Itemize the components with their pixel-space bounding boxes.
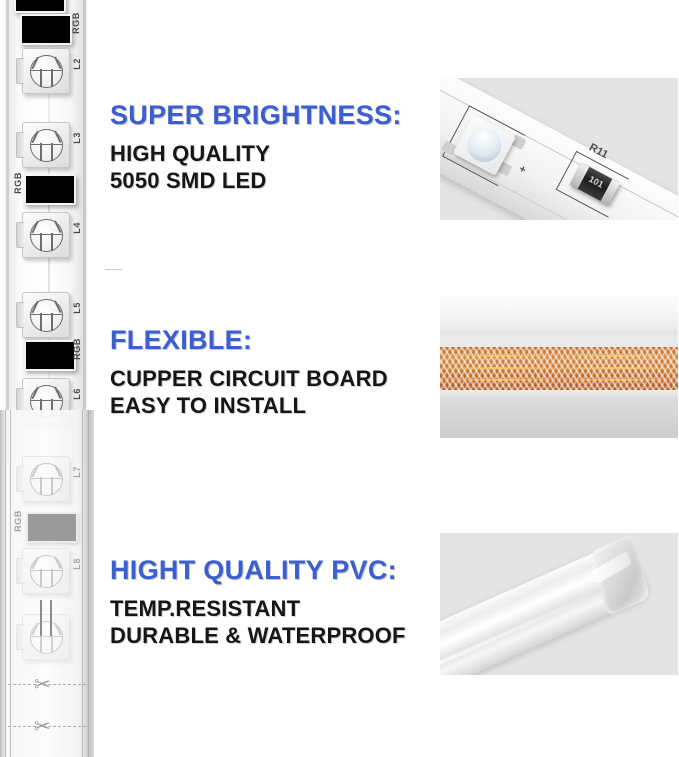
- tube-open-end: [591, 533, 650, 616]
- resistor-label-rgb: RGB: [71, 12, 81, 34]
- feature-line-2: 5050 SMD LED: [110, 168, 440, 195]
- scissors-icon: ✂: [34, 672, 51, 698]
- pvc-jacket-background: [440, 296, 678, 438]
- copper-braid-core: [440, 347, 678, 390]
- led-label: L3: [72, 132, 82, 144]
- scissors-icon: ✂: [34, 714, 51, 740]
- cut-mark: ✂: [8, 672, 86, 698]
- jacket-highlight: [440, 296, 678, 344]
- feature-line-1: HIGH QUALITY: [110, 141, 440, 168]
- led-chip: [22, 614, 70, 660]
- led-label: L8: [72, 558, 82, 570]
- clear-pvc-tube: [440, 539, 650, 675]
- sleeve-edge-line: [82, 410, 83, 757]
- led-lens-icon: [30, 463, 63, 496]
- led-lens-icon: [30, 299, 63, 332]
- feature-heading: FLEXIBLE:: [110, 325, 440, 356]
- led-lens-icon: [30, 129, 63, 162]
- tube-end-reflection: [591, 551, 631, 584]
- copper-wire: [440, 355, 678, 357]
- led-lens-icon: [30, 55, 63, 88]
- led-label: L4: [72, 222, 82, 234]
- resistor-label-rgb: RGB: [72, 338, 82, 360]
- copper-circuit-board-photo: [440, 296, 678, 438]
- led-chip: [22, 212, 70, 258]
- resistor-label-rgb: RGB: [13, 172, 23, 194]
- rgb-resistor: [14, 0, 66, 13]
- led-lens-icon: [30, 555, 63, 588]
- led-strip-graphic: RGB L2 L3 RGB L4 L5 RGB L6: [0, 0, 96, 757]
- feature-block-flexible: FLEXIBLE: CUPPER CIRCUIT BOARD EASY TO I…: [110, 325, 440, 420]
- led-chip: [22, 548, 70, 594]
- sleeve-edge-line: [88, 410, 89, 757]
- decorative-rule: [105, 269, 122, 270]
- feature-line-1: TEMP.RESISTANT: [110, 596, 440, 623]
- pcb-right-edge: [83, 0, 86, 464]
- copper-wire: [440, 367, 678, 369]
- feature-line-2: DURABLE & WATERPROOF: [110, 623, 440, 650]
- rgb-resistor: [26, 512, 78, 543]
- led-lens-icon: [30, 219, 63, 252]
- led-chip: [22, 122, 70, 168]
- smd-led-closeup-photo: 101 R11 + D2: [440, 78, 678, 220]
- led-dome-icon: [461, 122, 507, 168]
- led-label: L5: [72, 302, 82, 314]
- cut-mark: ✂: [8, 714, 86, 740]
- feature-block-brightness: SUPER BRIGHTNESS: HIGH QUALITY 5050 SMD …: [110, 100, 440, 195]
- led-lens-icon: [30, 621, 63, 654]
- feature-line-1: CUPPER CIRCUIT BOARD: [110, 366, 440, 393]
- sleeve-edge-line: [10, 410, 11, 757]
- copper-wire: [440, 379, 678, 381]
- rgb-resistor: [24, 174, 76, 205]
- resistor-label-rgb: RGB: [13, 510, 23, 532]
- pcb-left-edge: [6, 0, 9, 464]
- feature-block-pvc: HIGHT QUALITY PVC: TEMP.RESISTANT DURABL…: [110, 555, 440, 650]
- led-label: L2: [72, 58, 82, 70]
- feature-heading: SUPER BRIGHTNESS:: [110, 100, 440, 131]
- sleeve-edge-line: [5, 410, 6, 757]
- led-label: L6: [72, 388, 82, 400]
- rgb-resistor: [20, 14, 72, 45]
- polarity-marker-text: +: [517, 163, 528, 177]
- rgb-resistor: [24, 340, 76, 371]
- solder-lead: [50, 600, 52, 636]
- pvc-tube-photo: [440, 533, 678, 675]
- led-chip: [22, 48, 70, 94]
- pcb-strip-macro: 101 R11 + D2: [440, 78, 678, 220]
- tube-highlight: [440, 574, 594, 659]
- feature-line-2: EASY TO INSTALL: [110, 393, 440, 420]
- led-label: L7: [72, 466, 82, 478]
- feature-heading: HIGHT QUALITY PVC:: [110, 555, 440, 586]
- led-chip: [22, 456, 70, 502]
- led-chip: [22, 292, 70, 338]
- solder-lead: [40, 600, 42, 636]
